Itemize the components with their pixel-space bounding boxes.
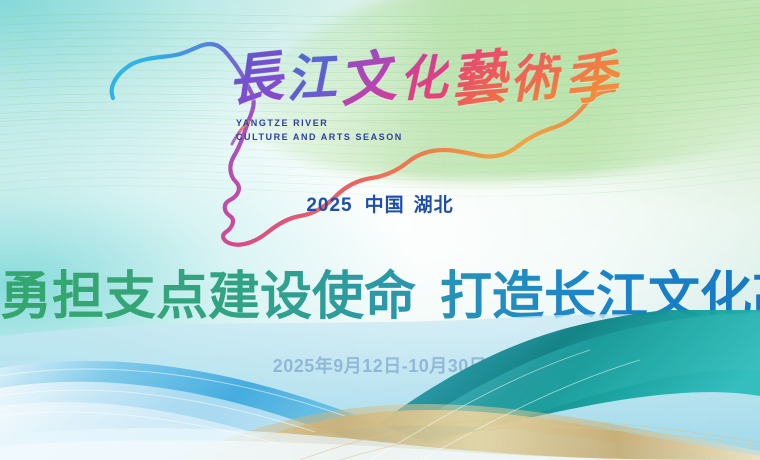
year-label: 2025: [306, 195, 352, 216]
english-subtitle: YANGTZE RIVER CULTURE AND ARTS SEASON: [236, 116, 403, 144]
province-label: 湖北: [414, 195, 454, 216]
headline-part-1: 勇担支点建设使命: [0, 267, 416, 327]
calligraphy-char-4: 化: [398, 53, 450, 103]
year-location-line: 2025中国湖北: [0, 190, 760, 217]
english-subtitle-line1: YANGTZE RIVER: [236, 116, 403, 130]
calligraphy-char-6: 術: [508, 51, 563, 105]
calligraphy-char-5: 藝: [448, 47, 512, 109]
country-label: 中国: [365, 195, 405, 216]
calligraphy-char-1: 長: [225, 48, 288, 109]
bottom-wave-ribbons: [0, 310, 760, 460]
calligraphy-char-2: 江: [284, 51, 339, 104]
calligraphy-char-7: 季: [561, 48, 622, 108]
main-headline: 勇担支点建设使命打造长江文化高地: [0, 266, 760, 328]
headline-part-2: 打造长江文化高地: [440, 267, 760, 327]
english-subtitle-line2: CULTURE AND ARTS SEASON: [236, 130, 403, 144]
calligraphy-title: 長 江 文 化 藝 術 季: [228, 38, 548, 118]
date-range: 2025年9月12日-10月30日: [0, 352, 760, 378]
poster-canvas: 長 江 文 化 藝 術 季 YANGTZE RIVER CULTURE AND …: [0, 0, 760, 460]
calligraphy-char-3: 文: [336, 47, 401, 110]
